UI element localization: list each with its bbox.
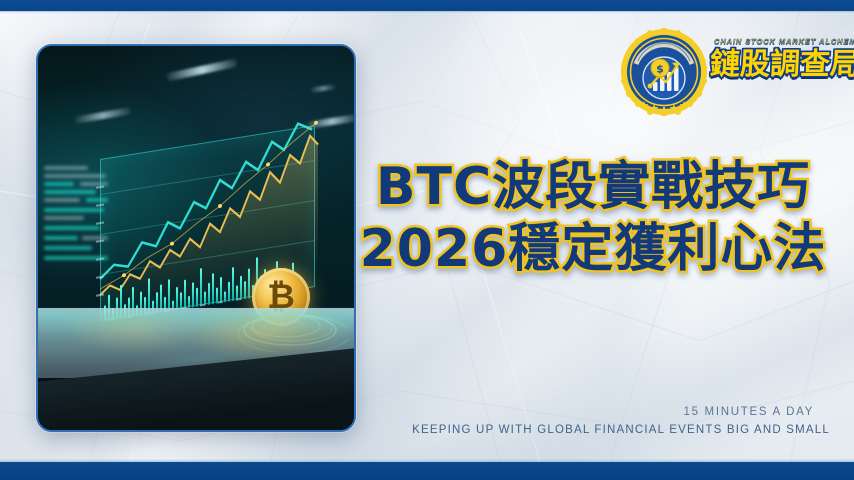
bottom-blue-band xyxy=(0,462,854,480)
top-blue-band xyxy=(0,0,854,11)
tagline-primary: 15 MINUTES A DAY xyxy=(410,406,830,418)
headline-line-2: 2026穩定獲利心法 xyxy=(358,220,828,278)
brand-wordmark: CHAIN STOCK MARKET ALCHEMY 鏈股調查局 xyxy=(710,38,840,80)
svg-text:$: $ xyxy=(656,63,664,76)
headline-block: BTC波段實戰技巧 2026穩定獲利心法 xyxy=(358,158,828,278)
wordmark-chinese: 鏈股調查局 xyxy=(709,49,841,81)
chart-y-axis-ticks xyxy=(96,185,106,305)
hero-image-card: ₿ xyxy=(36,44,356,432)
tagline-secondary: KEEPING UP WITH GLOBAL FINANCIAL EVENTS … xyxy=(410,424,830,436)
footer-taglines: 15 MINUTES A DAY KEEPING UP WITH GLOBAL … xyxy=(410,406,830,436)
headline-line-1: BTC波段實戰技巧 xyxy=(358,158,828,216)
brand-badge-icon: $ xyxy=(620,28,708,116)
brand-lockup[interactable]: $ CHAIN STOCK MARKET ALCHEMY 鏈股調查局 xyxy=(612,26,838,122)
wordmark-english: CHAIN STOCK MARKET ALCHEMY xyxy=(710,38,840,46)
poster-canvas: ₿ xyxy=(0,0,854,480)
top-band-hairline xyxy=(0,11,854,13)
hero-image: ₿ xyxy=(38,46,354,430)
